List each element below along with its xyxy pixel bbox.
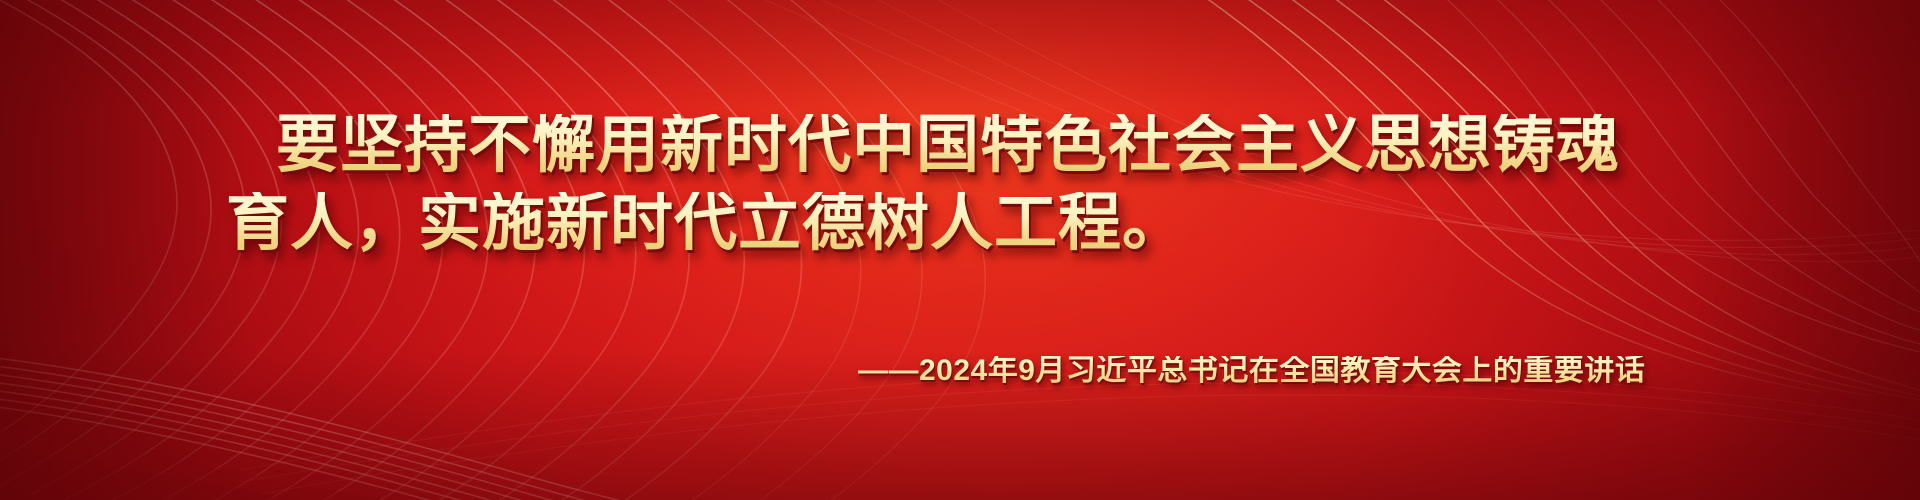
headline-line-1: 要坚持不懈用新时代中国特色社会主义思想铸魂	[276, 114, 1620, 177]
attribution-text: ——2024年9月习近平总书记在全国教育大会上的重要讲话	[858, 356, 1645, 386]
headline-line-2: 育人，实施新时代立德树人工程。	[226, 192, 1186, 255]
headline-block: 要坚持不懈用新时代中国特色社会主义思想铸魂 育人，实施新时代立德树人工程。 ——…	[0, 0, 1920, 500]
banner-root: 要坚持不懈用新时代中国特色社会主义思想铸魂 育人，实施新时代立德树人工程。 ——…	[0, 0, 1920, 500]
